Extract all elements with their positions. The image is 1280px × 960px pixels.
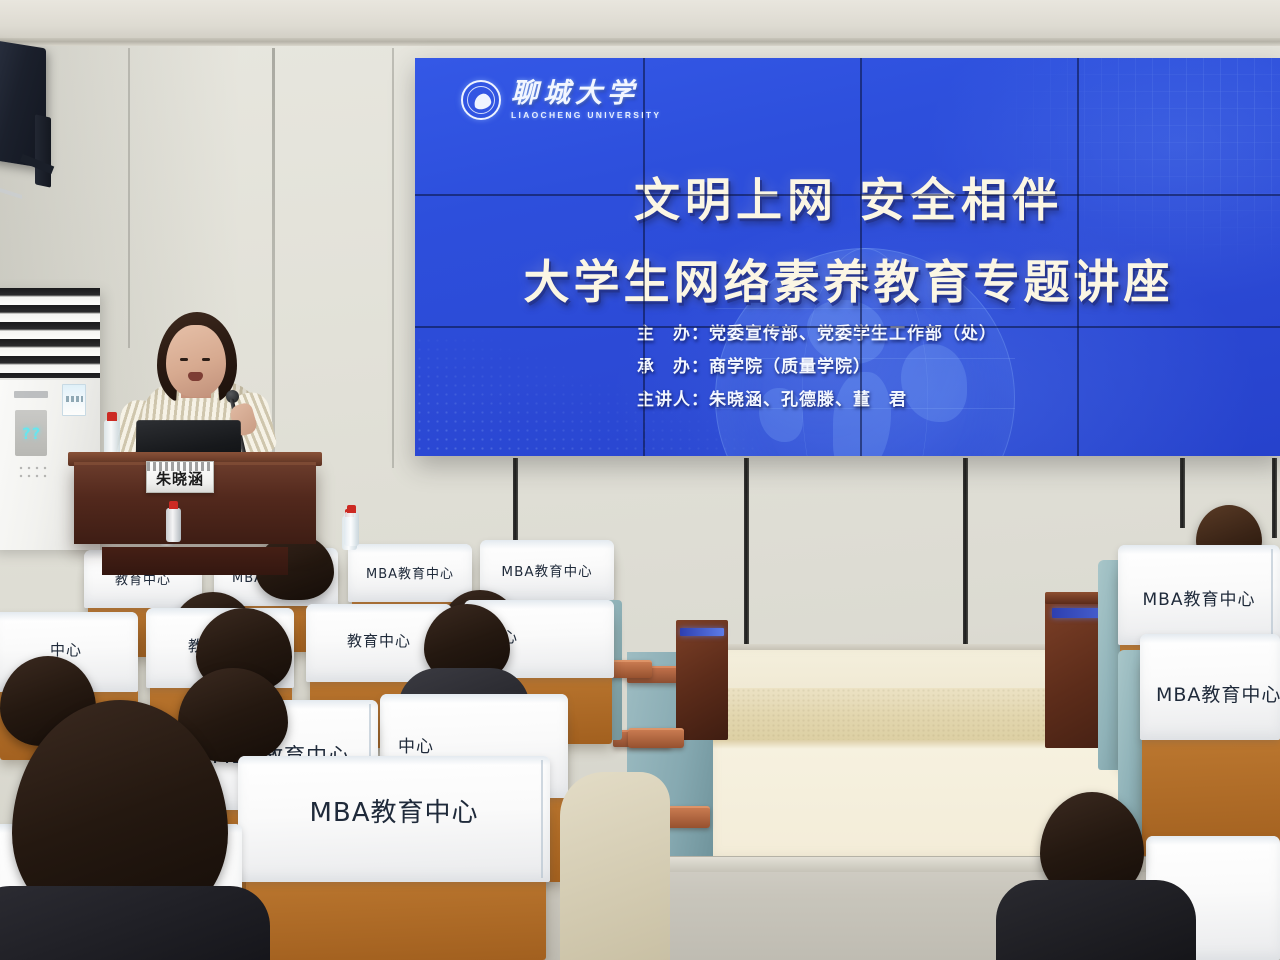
presenter-mouth <box>188 372 203 381</box>
seat-cover[interactable]: MBA教育中心 <box>238 756 550 882</box>
seat-cover-label: 中心 <box>398 732 568 757</box>
seat-cover-label-partial: MBA教育中心 <box>1156 680 1280 707</box>
ac-control-buttons[interactable] <box>17 464 47 480</box>
ceiling <box>0 0 1280 42</box>
presenter-eye-right <box>202 358 210 361</box>
wall-groove <box>1180 458 1185 528</box>
seat-cover-label: MBA教育中心 <box>238 792 550 829</box>
seat-cover[interactable]: MBA教育中心 <box>1140 634 1280 740</box>
lecture-hall-photo: 聊城大学 LIAOCHENG UNIVERSITY 文明上网 安全相伴 大学生网… <box>0 0 1280 960</box>
audience-shoulder <box>996 880 1196 960</box>
wall-groove <box>1272 458 1277 538</box>
tile-seam-vertical <box>1077 58 1079 456</box>
tile-seam-vertical <box>643 58 645 456</box>
seat-cover-label: MBA教育中心 <box>348 563 472 582</box>
credit-line-organizer: 主 办：党委宣传部、党委学生工作部（处） <box>637 318 997 351</box>
seat-cover[interactable]: MBA教育中心 <box>1118 545 1280 645</box>
credit-value-1: 商学院（质量学院） <box>709 357 871 377</box>
credit-label-0: 主 办： <box>637 318 709 351</box>
seat-cover-label: 中心 <box>0 639 138 660</box>
ac-brand-logo <box>14 391 48 398</box>
tile-seam-horizontal <box>415 194 1280 196</box>
credit-line-presenters: 主讲人：朱晓涵、孔德滕、董 君 <box>637 384 997 417</box>
ac-louvers-icon <box>0 288 100 380</box>
university-seal-icon <box>461 80 501 120</box>
wall-groove <box>963 458 968 658</box>
presenter-eye-left <box>180 358 188 361</box>
speaker-mount-bracket <box>35 114 51 187</box>
ac-display-value: ?? <box>15 410 47 456</box>
wall-groove <box>744 458 749 648</box>
university-name-cn: 聊城大学 <box>511 80 661 107</box>
tile-seam-vertical <box>860 58 862 456</box>
audience-shoulder <box>560 772 670 960</box>
credit-label-2: 主讲人： <box>637 384 709 417</box>
credit-line-host: 承 办：商学院（质量学院） <box>637 351 997 384</box>
side-cabinet-left <box>676 620 728 740</box>
seat-armrest[interactable] <box>628 728 684 748</box>
seat-cover[interactable]: MBA教育中心 <box>480 540 614 600</box>
slide-title-line1: 文明上网 安全相伴 <box>415 164 1280 230</box>
seat-cover[interactable]: MBA教育中心 <box>348 544 472 602</box>
credit-label-1: 承 办： <box>637 351 709 384</box>
slide-surface: 聊城大学 LIAOCHENG UNIVERSITY 文明上网 安全相伴 大学生网… <box>415 58 1280 456</box>
slide-title-line2: 大学生网络素养教育专题讲座 <box>415 246 1280 312</box>
seat-cover-label: MBA教育中心 <box>480 560 614 580</box>
presenter-nameplate-text: 朱晓涵 <box>156 468 204 492</box>
slide-title-block: 文明上网 安全相伴 大学生网络素养教育专题讲座 <box>415 164 1280 312</box>
led-video-wall[interactable]: 聊城大学 LIAOCHENG UNIVERSITY 文明上网 安全相伴 大学生网… <box>415 58 1280 456</box>
slide-credits: 主 办：党委宣传部、党委学生工作部（处） 承 办：商学院（质量学院） 主讲人：朱… <box>637 318 997 417</box>
seat-cover-label: MBA教育中心 <box>1118 585 1280 610</box>
credit-value-2: 朱晓涵、孔德滕、董 君 <box>709 390 907 410</box>
wall-seam <box>392 48 394 468</box>
cabinet-led-strip <box>680 628 724 636</box>
energy-label-sticker <box>62 384 86 416</box>
wall-seam <box>128 48 130 348</box>
water-bottle[interactable] <box>166 508 181 542</box>
water-bottle[interactable] <box>344 512 359 546</box>
presenter-head <box>166 325 226 397</box>
presenter-nameplate: 朱晓涵 <box>146 461 214 493</box>
university-logo: 聊城大学 LIAOCHENG UNIVERSITY <box>461 80 661 120</box>
nameplate-header-strip <box>147 462 213 471</box>
audience-shoulder <box>0 886 270 960</box>
tile-seam-horizontal <box>415 326 1280 328</box>
university-name-en: LIAOCHENG UNIVERSITY <box>511 110 661 120</box>
